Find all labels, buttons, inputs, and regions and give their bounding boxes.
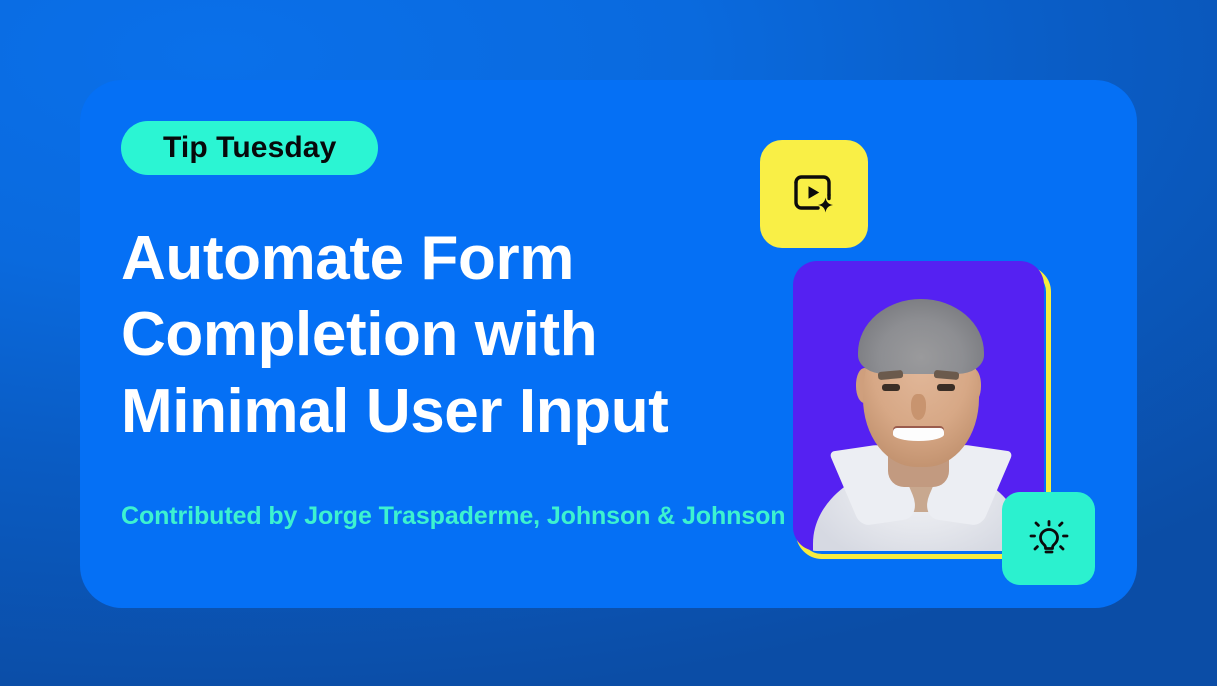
- portrait-hair: [858, 299, 984, 374]
- tip-card: Tip Tuesday Automate Form Completion wit…: [80, 80, 1137, 608]
- tip-tuesday-badge: Tip Tuesday: [121, 121, 378, 175]
- poster-canvas: Tip Tuesday Automate Form Completion wit…: [0, 0, 1217, 686]
- attribution-text: Contributed by Jorge Traspaderme, Johnso…: [121, 502, 781, 531]
- portrait-eye-left: [882, 384, 900, 390]
- video-sparkle-icon: [787, 167, 841, 221]
- media-cluster: [760, 140, 1105, 560]
- page-title: Automate Form Completion with Minimal Us…: [121, 221, 781, 450]
- lightbulb-tile: [1002, 492, 1095, 585]
- badge-label: Tip Tuesday: [163, 133, 336, 163]
- portrait-mouth: [893, 428, 943, 441]
- lightbulb-icon: [1025, 515, 1073, 563]
- video-tile: [760, 140, 868, 248]
- portrait-eye-right: [937, 384, 955, 390]
- card-content: Tip Tuesday Automate Form Completion wit…: [121, 121, 781, 531]
